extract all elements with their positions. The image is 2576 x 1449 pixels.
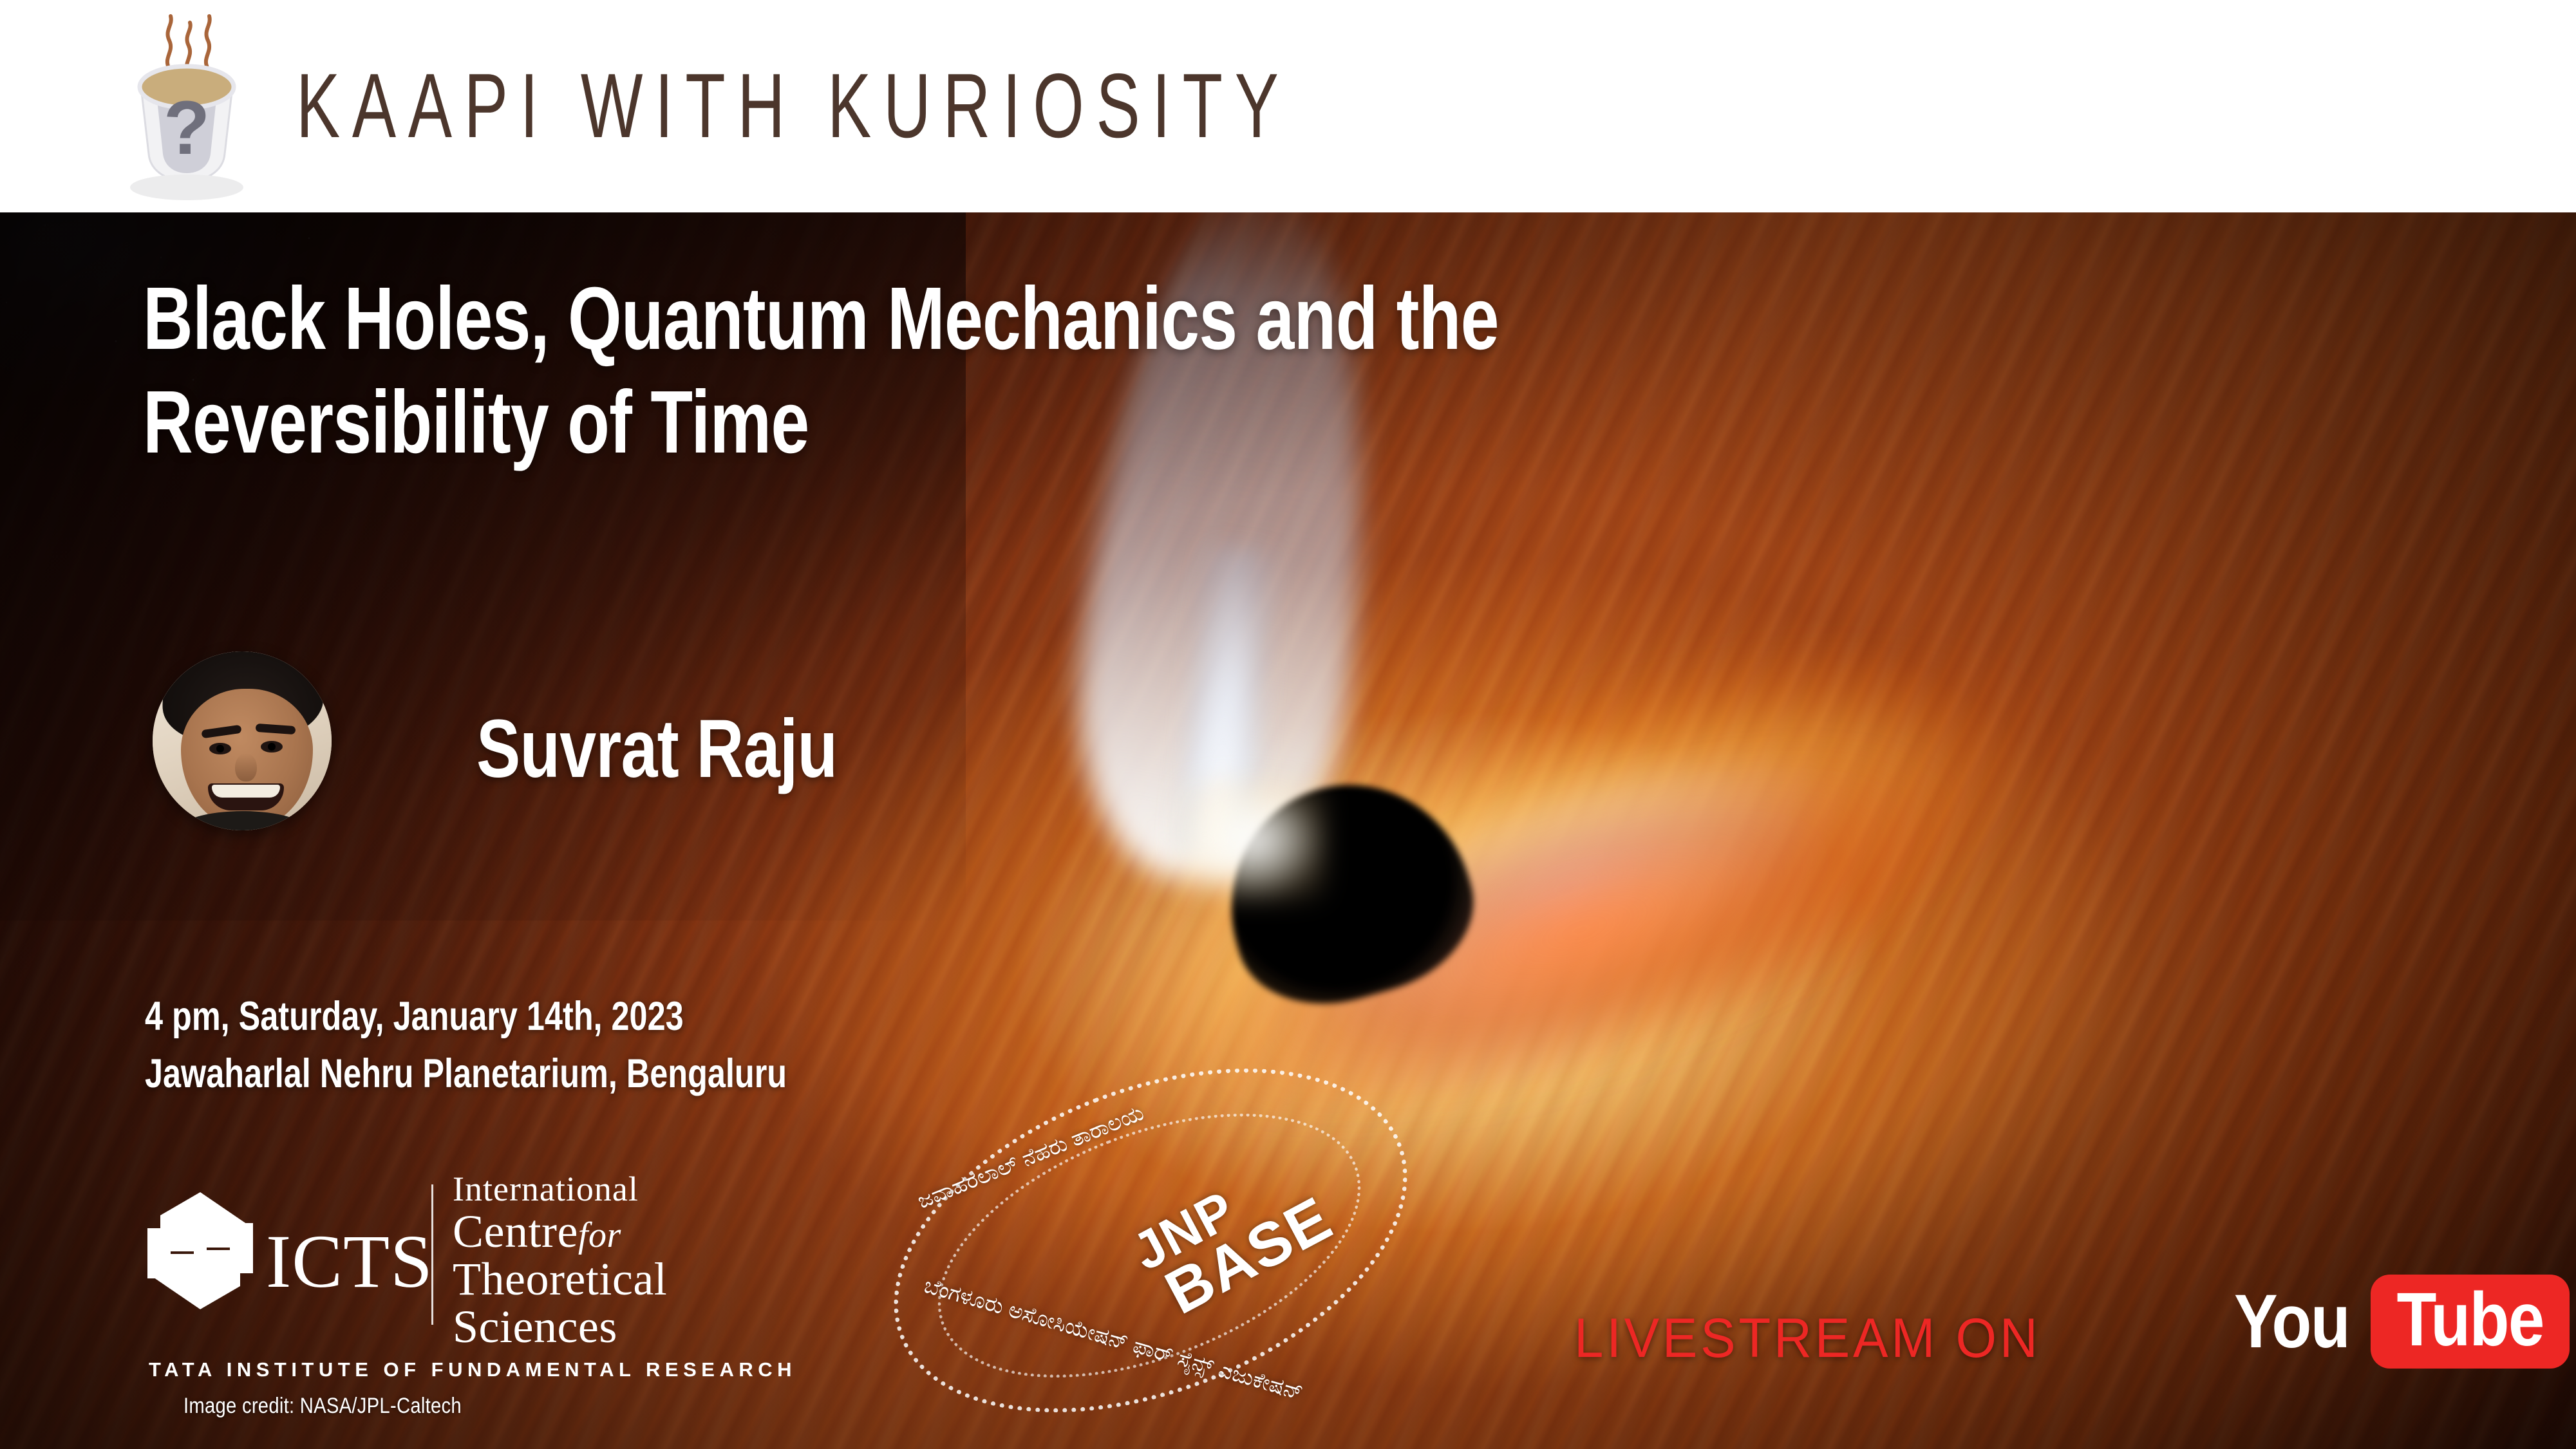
icts-line-theoretical: Theoretical: [453, 1255, 667, 1303]
avatar: [153, 651, 332, 830]
page-title: Black Holes, Quantum Mechanics and the R…: [143, 267, 1750, 475]
icts-line-centre: Centrefor: [453, 1208, 667, 1255]
event-details: 4 pm, Saturday, January 14th, 2023 Jawah…: [145, 988, 787, 1103]
youtube-you-text: You: [2234, 1278, 2349, 1365]
brand-title: KAAPI WITH KURIOSITY: [296, 53, 1291, 159]
jnp-base-logo: ಜವಾಹರಲಾಲ್ ನೆಹರು ತಾರಾಲಯ JNP BASE ಬೆಂಗಳೂರು…: [882, 1062, 1462, 1435]
avatar-eye-left: [209, 743, 231, 754]
poster-content: Black Holes, Quantum Mechanics and the R…: [0, 212, 2576, 1449]
youtube-tube-box: Tube: [2371, 1275, 2570, 1369]
icts-for-word: for: [578, 1215, 621, 1255]
avatar-smile: [208, 783, 284, 810]
icts-line-sciences: Sciences: [453, 1303, 667, 1351]
event-venue: Jawaharlal Nehru Planetarium, Bengaluru: [145, 1045, 787, 1103]
icts-line-international: International: [453, 1172, 667, 1208]
avatar-eye-right: [261, 741, 283, 753]
image-credit: Image credit: NASA/JPL-Caltech: [183, 1394, 462, 1419]
icts-centre-word: Centre: [453, 1206, 578, 1257]
icts-diamond-pinwheel-icon: [145, 1190, 256, 1312]
coffee-cup-question-mark-icon: ?: [113, 10, 261, 203]
avatar-nose: [235, 753, 257, 781]
youtube-tube-text: Tube: [2397, 1281, 2544, 1358]
livestream-label: LIVESTREAM ON: [1574, 1307, 2041, 1370]
icts-fullname: International Centrefor Theoretical Scie…: [453, 1172, 667, 1351]
event-poster: ? KAAPI WITH KURIOSITY Black Holes, Quan…: [0, 0, 2576, 1449]
speaker-name: Suvrat Raju: [476, 702, 837, 796]
event-datetime: 4 pm, Saturday, January 14th, 2023: [145, 988, 787, 1045]
icts-divider: [431, 1184, 433, 1325]
brand-header: ? KAAPI WITH KURIOSITY: [0, 0, 2576, 212]
icts-acronym: ICTS: [266, 1218, 433, 1305]
svg-text:?: ?: [164, 86, 210, 171]
icts-logo: ICTS International Centrefor Theoretical…: [145, 1146, 750, 1416]
icts-parent-org: TATA INSTITUTE OF FUNDAMENTAL RESEARCH: [149, 1358, 796, 1381]
youtube-logo[interactable]: You Tube: [2234, 1275, 2570, 1369]
